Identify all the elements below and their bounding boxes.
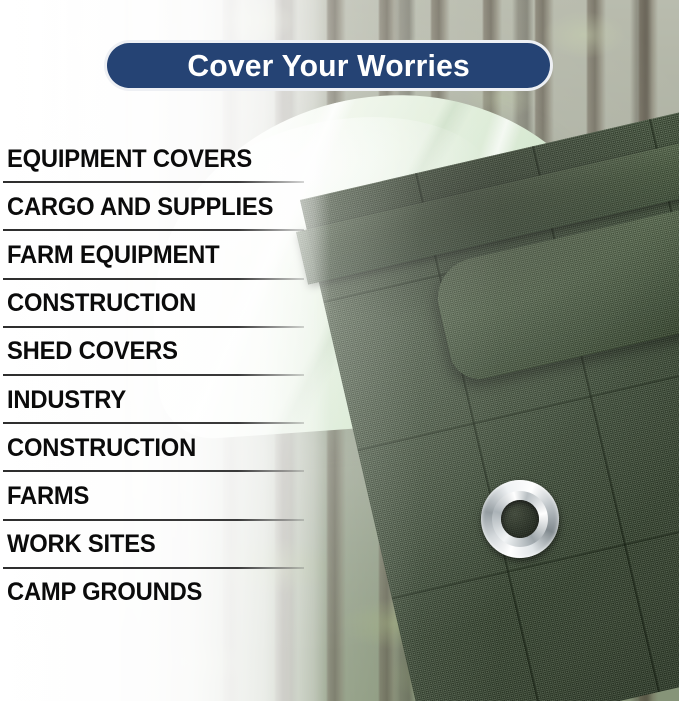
feature-label: INDUSTRY (7, 388, 126, 413)
feature-item-9: WORK SITES (0, 521, 310, 569)
feature-label: CARGO AND SUPPLIES (7, 195, 273, 220)
feature-label: WORK SITES (7, 532, 156, 557)
feature-label: SHED COVERS (7, 339, 178, 364)
feature-item-3: FARM EQUIPMENT (0, 231, 310, 279)
feature-label: CAMP GROUNDS (7, 580, 202, 605)
feature-label: EQUIPMENT COVERS (7, 147, 252, 172)
feature-item-10: CAMP GROUNDS (0, 569, 310, 617)
feature-item-2: CARGO AND SUPPLIES (0, 183, 310, 231)
product-poster: Cover Your Worries EQUIPMENT COVERS CARG… (0, 0, 679, 701)
feature-label: FARM EQUIPMENT (7, 243, 219, 268)
feature-item-5: SHED COVERS (0, 328, 310, 376)
feature-item-4: CONSTRUCTION (0, 280, 310, 328)
feature-item-1: EQUIPMENT COVERS (0, 135, 310, 183)
feature-label: CONSTRUCTION (7, 291, 196, 316)
feature-item-7: CONSTRUCTION (0, 424, 310, 472)
feature-list: EQUIPMENT COVERS CARGO AND SUPPLIES FARM… (0, 135, 310, 617)
feature-item-8: FARMS (0, 472, 310, 520)
feature-label: FARMS (7, 484, 89, 509)
headline-banner: Cover Your Worries (104, 40, 553, 91)
feature-label: CONSTRUCTION (7, 436, 196, 461)
feature-item-6: INDUSTRY (0, 376, 310, 424)
headline-text: Cover Your Worries (187, 48, 470, 84)
